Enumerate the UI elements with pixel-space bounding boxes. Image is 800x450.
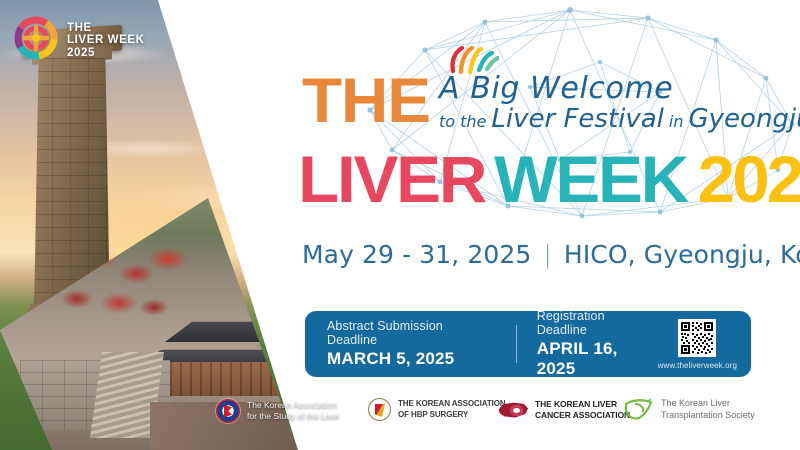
dateline: May 29 - 31, 2025 | HICO, Gyeongju, Kore…	[302, 240, 800, 269]
society-klca-line2: CANCER ASSOCIATION	[535, 410, 630, 421]
dateline-venue: HICO, Gyeongju, Korea	[564, 240, 800, 269]
dateline-dates: May 29 - 31, 2025	[302, 240, 531, 269]
society-hbp-line2: OF HBP SURGERY	[398, 410, 506, 420]
registration-deadline: Registration Deadline APRIL 16, 2025	[537, 309, 658, 379]
tagline-joiner: in	[669, 114, 684, 130]
society-logo-kasl[interactable]: The Korean Association for the Study of …	[216, 399, 340, 423]
society-logo-liver-transplantation[interactable]: The Korean Liver Transplantation Society	[624, 398, 755, 422]
registration-deadline-label: Registration Deadline	[537, 309, 658, 337]
abstract-deadline-value: MARCH 5, 2025	[327, 349, 492, 369]
conference-poster: THE LIVER WEEK 2025	[0, 0, 800, 450]
title-word-the: THE	[302, 74, 430, 129]
colorful-fan-ornament-icon	[447, 44, 499, 74]
society-logos-row: The Korean Association for the Study of …	[0, 386, 800, 450]
society-logo-liver-cancer[interactable]: THE KOREAN LIVER CANCER ASSOCIATION	[498, 399, 630, 421]
society-logo-hbp-surgery[interactable]: THE KOREAN ASSOCIATION OF HBP SURGERY	[368, 398, 506, 421]
society-kasl-line1: The Korean Association	[247, 400, 340, 411]
tagline-line-2: to the Liver Festival in Gyeongju, Korea…	[439, 106, 800, 132]
dateline-separator: |	[543, 240, 552, 269]
registration-deadline-value: APRIL 16, 2025	[537, 339, 658, 379]
liver-transplantation-emblem-icon	[624, 398, 654, 422]
abstract-deadline: Abstract Submission Deadline MARCH 5, 20…	[327, 319, 492, 369]
title-word-year: 2025	[697, 146, 800, 212]
liver-cancer-emblem-icon	[498, 402, 528, 419]
society-hbp-line1: THE KOREAN ASSOCIATION	[398, 399, 506, 409]
tagline-prefix: to the	[439, 114, 486, 130]
website-url[interactable]: www.theliverweek.org	[658, 361, 737, 370]
society-klts-line2: Transplantation Society	[661, 410, 755, 422]
hbp-surgery-emblem-icon	[368, 398, 391, 421]
abstract-deadline-label: Abstract Submission Deadline	[327, 319, 492, 347]
deadline-divider	[516, 325, 517, 363]
title-line-2: LIVER WEEK 2025	[300, 146, 800, 212]
title-word-liver: LIVER	[298, 146, 485, 212]
title-line-1: THE A Big Welcome to the	[302, 74, 800, 132]
tagline-place: Gyeongju, Korea !	[689, 106, 800, 132]
qr-code-icon[interactable]	[678, 319, 716, 357]
tagline-line-1: A Big Welcome	[439, 74, 800, 104]
qr-block[interactable]: www.theliverweek.org	[658, 319, 737, 370]
society-klca-line1: THE KOREAN LIVER	[535, 399, 630, 410]
society-klts-line1: The Korean Liver	[661, 398, 755, 410]
tagline-main: Liver Festival	[491, 106, 664, 132]
tagline-block: A Big Welcome to the Liver Festival in G…	[439, 60, 800, 132]
kasl-emblem-icon	[216, 399, 240, 423]
society-kasl-line2: for the Study of the Liver	[247, 411, 340, 422]
title-word-week: WEEK	[494, 146, 687, 212]
deadline-bar: Abstract Submission Deadline MARCH 5, 20…	[305, 311, 751, 377]
